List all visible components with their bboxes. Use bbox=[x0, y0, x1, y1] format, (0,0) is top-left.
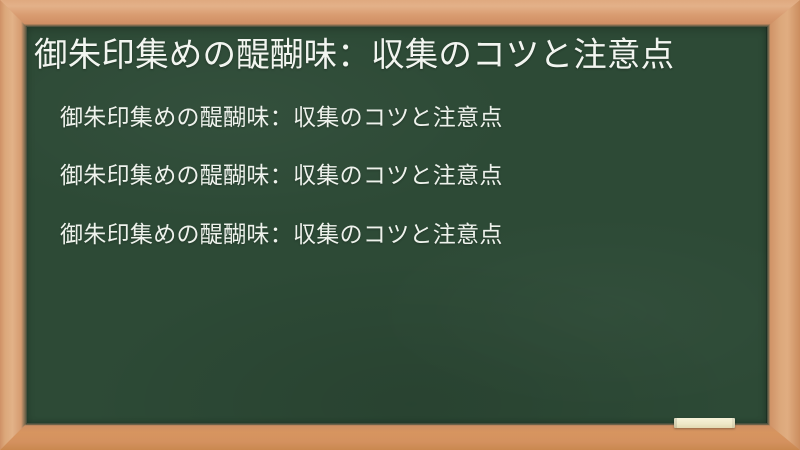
chalkboard-line-list: 御朱印集めの醍醐味：収集のコツと注意点 御朱印集めの醍醐味：収集のコツと注意点 … bbox=[30, 104, 753, 250]
chalkboard-content: 御朱印集めの醍醐味：収集のコツと注意点 御朱印集めの醍醐味：収集のコツと注意点 … bbox=[26, 26, 767, 250]
chalkboard-surface: 御朱印集めの醍醐味：収集のコツと注意点 御朱印集めの醍醐味：収集のコツと注意点 … bbox=[26, 26, 767, 424]
frame-plank-left bbox=[0, 0, 27, 450]
chalkboard-line: 御朱印集めの醍醐味：収集のコツと注意点 bbox=[60, 162, 753, 191]
chalkboard-line: 御朱印集めの醍醐味：収集のコツと注意点 bbox=[60, 221, 753, 250]
chalkboard-frame: 御朱印集めの醍醐味：収集のコツと注意点 御朱印集めの醍醐味：収集のコツと注意点 … bbox=[0, 0, 800, 450]
frame-plank-top bbox=[0, 0, 800, 27]
chalkboard-line: 御朱印集めの醍醐味：収集のコツと注意点 bbox=[60, 104, 753, 133]
page-title: 御朱印集めの醍醐味：収集のコツと注意点 bbox=[30, 28, 753, 78]
chalk-stick bbox=[674, 418, 735, 428]
frame-plank-right bbox=[767, 0, 800, 450]
